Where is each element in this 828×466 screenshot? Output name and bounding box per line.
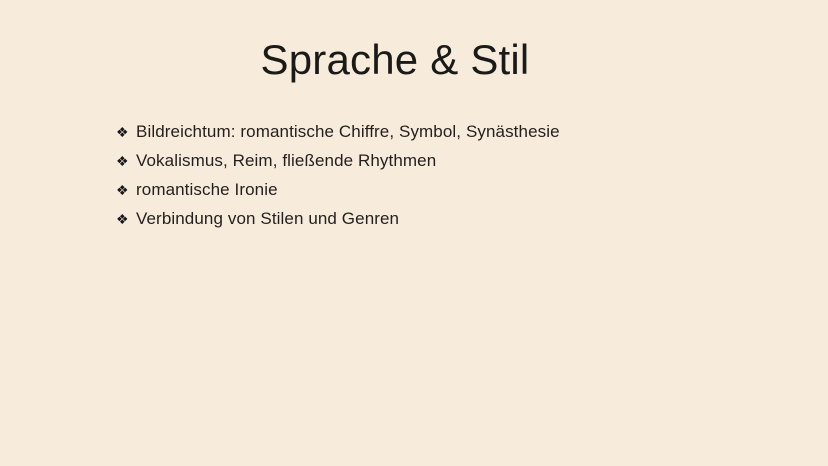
list-item: ❖ romantische Ironie bbox=[116, 179, 776, 208]
list-item-label: romantische Ironie bbox=[136, 179, 776, 201]
floret-bullet-icon: ❖ bbox=[116, 150, 136, 172]
page-title: Sprache & Stil bbox=[0, 34, 790, 86]
presentation-slide: Sprache & Stil ❖ Bildreichtum: romantisc… bbox=[0, 0, 828, 466]
list-item-label: Vokalismus, Reim, fließende Rhythmen bbox=[136, 150, 776, 172]
list-item-label: Bildreichtum: romantische Chiffre, Symbo… bbox=[136, 121, 776, 143]
list-item: ❖ Bildreichtum: romantische Chiffre, Sym… bbox=[116, 121, 776, 150]
list-item: ❖ Verbindung von Stilen und Genren bbox=[116, 208, 776, 237]
bullet-list: ❖ Bildreichtum: romantische Chiffre, Sym… bbox=[116, 121, 776, 237]
floret-bullet-icon: ❖ bbox=[116, 179, 136, 201]
list-item-label: Verbindung von Stilen und Genren bbox=[136, 208, 776, 230]
floret-bullet-icon: ❖ bbox=[116, 208, 136, 230]
floret-bullet-icon: ❖ bbox=[116, 121, 136, 143]
list-item: ❖ Vokalismus, Reim, fließende Rhythmen bbox=[116, 150, 776, 179]
